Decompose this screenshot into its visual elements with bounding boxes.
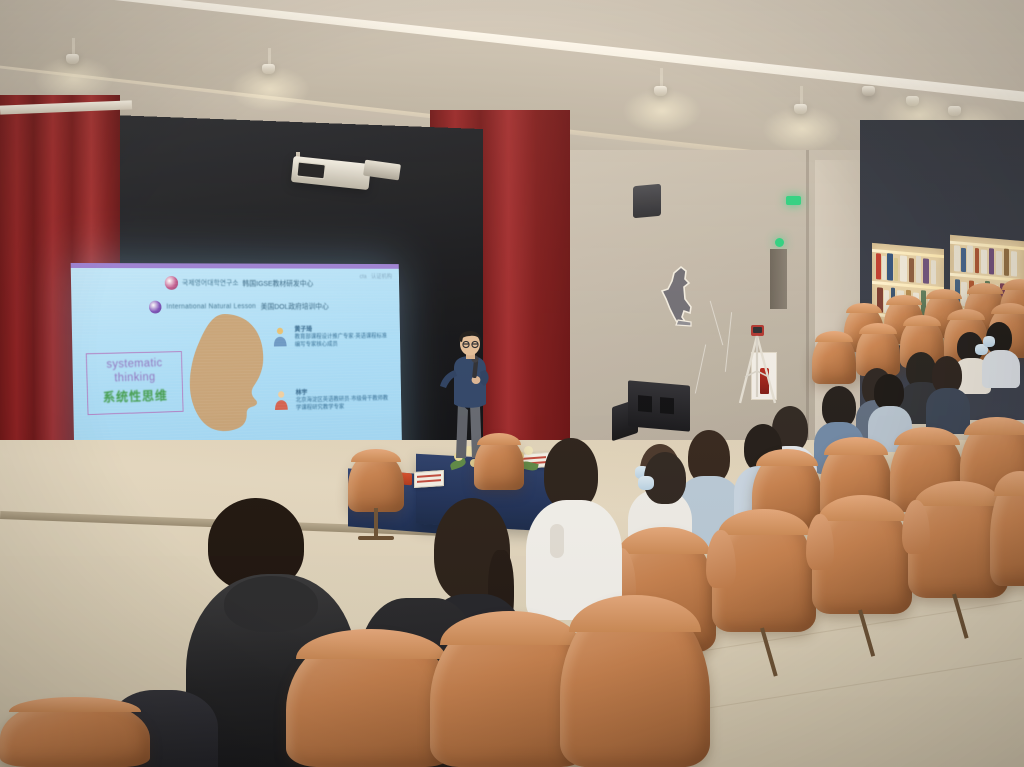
exit-sign — [786, 196, 801, 205]
audience-seat-front[interactable] — [560, 598, 710, 767]
slide-header: 국제영어대학연구소 韩国IGSE教材研发中心 — [71, 276, 399, 290]
chair-leg — [374, 508, 378, 538]
camera-tripod — [735, 325, 775, 403]
stage-chair[interactable] — [474, 436, 524, 490]
track-light-stem — [660, 68, 663, 88]
speaker-2-desc: 北京海淀区英语教研员·市级骨干教师教学课程研究教学专家 — [296, 395, 389, 413]
audience-seat-front[interactable] — [990, 474, 1024, 586]
audience-seat-front[interactable] — [0, 700, 150, 767]
slide-title-box: systematic thinking 系统性思维 — [86, 351, 184, 415]
subwoofer-speaker — [628, 380, 690, 431]
slide-sub-org-en: International Natural Lesson — [166, 303, 256, 310]
slide-title-cn: 系统性思维 — [88, 384, 183, 406]
audience-seat[interactable] — [812, 334, 856, 384]
auditorium-photo: cfa 认证机构 국제영어대학연구소 韩国IGSE教材研发中心 Internat… — [0, 0, 1024, 767]
igse-logo-icon — [165, 276, 179, 290]
stage-chair[interactable] — [348, 452, 404, 512]
intl-lesson-logo-icon — [149, 301, 162, 314]
face-mask — [638, 476, 654, 490]
slide-speaker-1: 黄子琦 教育部课程设计推广专家·英语课程标准编写专家核心成员 — [271, 325, 387, 350]
face-mask — [983, 336, 995, 347]
slide-title-en-line2: thinking — [87, 370, 182, 387]
track-light-stem — [800, 86, 803, 106]
wall-speaker — [633, 184, 661, 218]
slide-header-org-kr: 국제영어대학연구소 — [182, 278, 239, 288]
chair-base — [358, 536, 394, 540]
speaker-1-desc: 教育部课程设计推广专家·英语课程标准编写专家核心成员 — [295, 333, 388, 350]
slide-header-org-cn: 韩国IGSE教材研发中心 — [242, 278, 313, 289]
speaker-avatar-icon — [272, 389, 291, 411]
name-placard — [414, 470, 444, 488]
exit-sign — [775, 238, 784, 247]
hoodie-hood — [224, 576, 318, 632]
dinosaur-decal — [660, 265, 700, 330]
projector-lens — [296, 161, 325, 179]
slide-speaker-2: 林宇 北京海淀区英语教研员·市级骨干教师教学课程研究教学专家 — [272, 387, 388, 413]
slide-sub-org-cn: 美国DOL政府培训中心 — [261, 301, 329, 312]
speaker-avatar-icon — [271, 326, 290, 347]
track-light — [862, 86, 875, 96]
head-silhouette-icon — [181, 311, 272, 437]
exit-door — [770, 249, 787, 309]
